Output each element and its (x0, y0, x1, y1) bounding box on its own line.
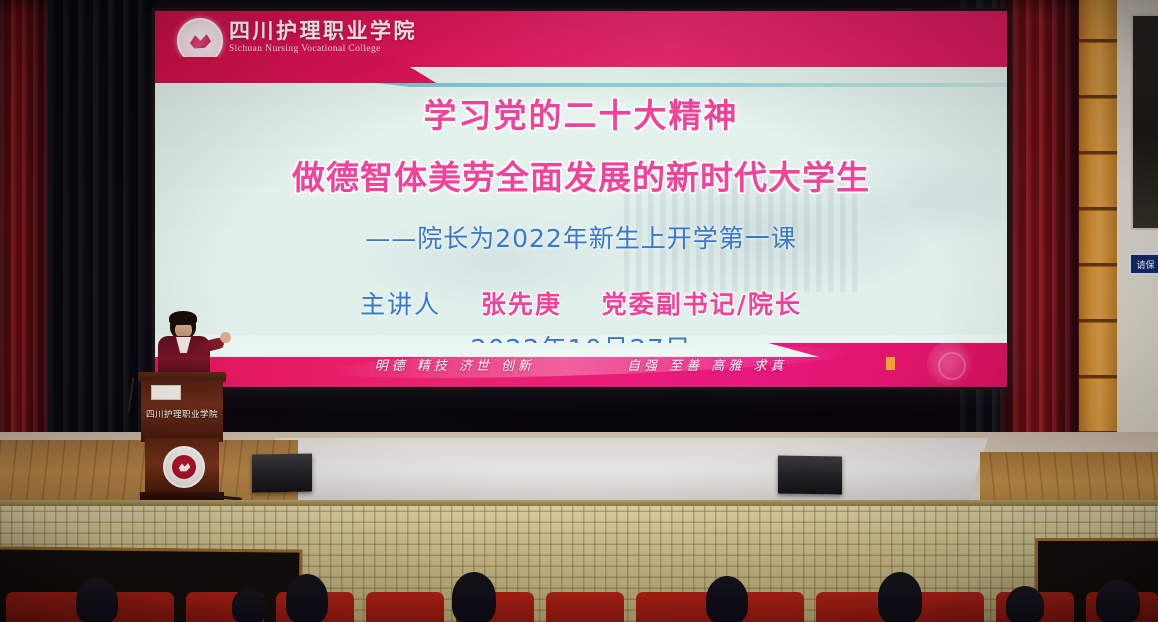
wall-sign-label: 请保 (1136, 258, 1154, 271)
audience-member (706, 576, 748, 622)
projection-screen: 四川护理职业学院 Sichuan Nursing Vocational Coll… (155, 11, 1007, 387)
audience-member (1096, 580, 1140, 622)
curtain-right-red (1000, 0, 1082, 478)
wall-sign: 请保 (1129, 253, 1158, 275)
podium-lower-body (145, 438, 219, 496)
presenter-label: 主讲人 (360, 290, 441, 319)
slide-presenter-line: 主讲人 张先庚 党委副书记/院长 (155, 285, 1007, 321)
stage-monitor-icon (252, 453, 312, 492)
audience-member (1006, 586, 1044, 622)
audience-seat (546, 592, 624, 622)
audience-seat-row (0, 592, 1158, 622)
podium-institution-script: 四川护理职业学院 (145, 408, 219, 420)
rose-watermark-icon (927, 343, 973, 387)
presenter-title: 党委副书记/院长 (602, 290, 802, 319)
slide-content: 学习党的二十大精神 做德智体美劳全面发展的新时代大学生 ——院长为2022年新生… (155, 73, 1007, 366)
speaker-hair (169, 311, 197, 325)
stage-monitor-icon (778, 455, 842, 494)
college-seal-icon (163, 446, 205, 488)
podium-nameplate (151, 385, 181, 400)
auditorium-scene: 请保 四川护理职业学院 Sichuan Nursing Vocational C… (0, 0, 1158, 622)
college-identity: 四川护理职业学院 Sichuan Nursing Vocational Coll… (229, 20, 417, 54)
wall-notice-board (1131, 14, 1158, 230)
emblem-leaf-icon (188, 32, 212, 50)
slogan-left: 明德 精技 济世 创新 (375, 355, 535, 374)
audience-seat (366, 592, 444, 622)
podium-front-panel: 四川护理职业学院 (141, 380, 223, 442)
slide-subtitle: ——院长为2022年新生上开学第一课 (155, 219, 1007, 255)
seal-inner-emblem-icon (172, 455, 196, 479)
audience-member (76, 578, 118, 622)
wood-panel-column (1079, 0, 1117, 487)
presenter-name: 张先庚 (481, 290, 562, 319)
college-name-en: Sichuan Nursing Vocational College (229, 44, 417, 54)
projection-screen-frame: 四川护理职业学院 Sichuan Nursing Vocational Coll… (152, 8, 1010, 390)
audience-member (452, 572, 496, 622)
podium-with-speaker: 四川护理职业学院 (136, 300, 228, 500)
audience-member (232, 588, 266, 622)
slide-header-band: 四川护理职业学院 Sichuan Nursing Vocational Coll… (155, 11, 1007, 67)
slide-footer-band: 明德 精技 济世 创新 自强 至善 高雅 求真 (155, 343, 1007, 387)
college-name-cn: 四川护理职业学院 (229, 20, 417, 42)
audience-member (286, 574, 328, 622)
slide-title-line-2: 做德智体美劳全面发展的新时代大学生 (155, 151, 1007, 199)
slogan-right: 自强 至善 高雅 求真 (627, 355, 787, 374)
slide-title-line-1: 学习党的二十大精神 (155, 89, 1007, 137)
slide-slogans: 明德 精技 济世 创新 自强 至善 高雅 求真 (155, 355, 1007, 374)
speaker-hand (220, 332, 231, 343)
audience-member (878, 572, 922, 622)
footer-orange-marker (886, 357, 895, 370)
audience-seat (636, 592, 714, 622)
audience-seat (6, 592, 84, 622)
